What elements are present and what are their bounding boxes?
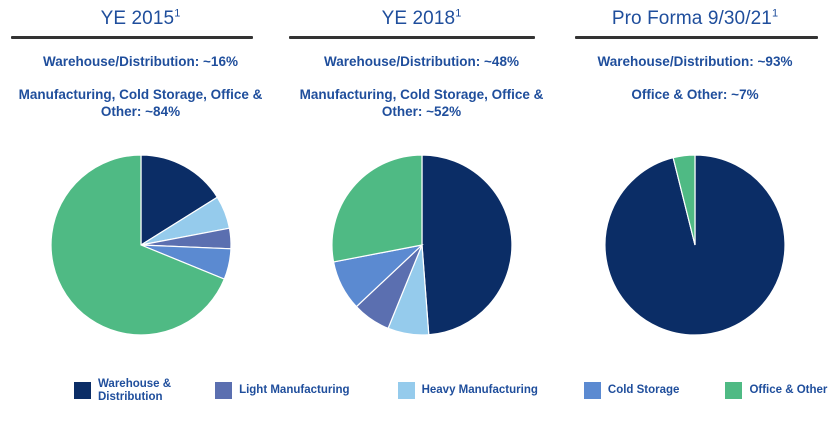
legend-swatch-cold-storage — [584, 382, 601, 399]
panel-title-text: YE 2015 — [101, 8, 175, 29]
panel-title-pro-forma: Pro Forma 9/30/211 — [562, 0, 828, 32]
panel-title-text: Pro Forma 9/30/21 — [612, 8, 772, 29]
pie-svg-ye-2015 — [41, 152, 241, 338]
pie-svg-ye-2018 — [322, 152, 522, 338]
panel-pro-forma-093021: Pro Forma 9/30/211 Warehouse/Distributio… — [562, 0, 828, 365]
legend-swatch-heavy-manufacturing — [398, 382, 415, 399]
legend-item-heavy-manufacturing: Heavy Manufacturing — [398, 382, 538, 399]
panel-title-text: YE 2018 — [382, 8, 456, 29]
legend-label-warehouse-distribution: Warehouse & Distribution — [98, 378, 171, 403]
pie-chart-ye-2018 — [281, 152, 562, 338]
footnote-marker: 1 — [174, 8, 180, 20]
legend-swatch-office-other — [725, 382, 742, 399]
footnote-marker: 1 — [455, 8, 461, 20]
legend-label-cold-storage: Cold Storage — [608, 384, 680, 397]
panel-title-ye-2015: YE 20151 — [0, 0, 281, 32]
pie-panels-row: YE 20151 Warehouse/Distribution: ~16% Ma… — [0, 0, 828, 365]
stat-other-categories: Office & Other: ~7% — [562, 86, 828, 103]
chart-legend: Warehouse & Distribution Light Manufactu… — [0, 378, 828, 403]
stat-warehouse-distribution: Warehouse/Distribution: ~93% — [562, 53, 828, 70]
pie-slice-office-other — [331, 155, 421, 262]
legend-item-office-other: Office & Other — [725, 382, 827, 399]
pie-chart-ye-2015 — [0, 152, 281, 338]
stat-other-categories: Manufacturing, Cold Storage, Office & Ot… — [0, 86, 281, 120]
legend-label-light-manufacturing: Light Manufacturing — [239, 384, 350, 397]
title-divider-rule — [289, 36, 535, 39]
legend-item-warehouse-distribution: Warehouse & Distribution — [74, 378, 171, 403]
title-divider-rule — [575, 36, 818, 39]
legend-swatch-warehouse-distribution — [74, 382, 91, 399]
title-divider-rule — [11, 36, 253, 39]
footnote-marker: 1 — [772, 8, 778, 20]
legend-item-cold-storage: Cold Storage — [584, 382, 680, 399]
stat-warehouse-distribution: Warehouse/Distribution: ~16% — [0, 53, 281, 70]
pie-chart-pro-forma — [562, 152, 828, 338]
legend-label-heavy-manufacturing: Heavy Manufacturing — [422, 384, 538, 397]
legend-item-light-manufacturing: Light Manufacturing — [215, 382, 350, 399]
stat-warehouse-distribution: Warehouse/Distribution: ~48% — [281, 53, 562, 70]
pie-svg-pro-forma — [595, 152, 795, 338]
pie-slice-warehouse-distribution — [422, 155, 512, 335]
panel-title-ye-2018: YE 20181 — [281, 0, 562, 32]
legend-label-office-other: Office & Other — [749, 384, 827, 397]
panel-ye-2018: YE 20181 Warehouse/Distribution: ~48% Ma… — [281, 0, 562, 365]
panel-ye-2015: YE 20151 Warehouse/Distribution: ~16% Ma… — [0, 0, 281, 365]
legend-swatch-light-manufacturing — [215, 382, 232, 399]
stat-other-categories: Manufacturing, Cold Storage, Office & Ot… — [281, 86, 562, 120]
